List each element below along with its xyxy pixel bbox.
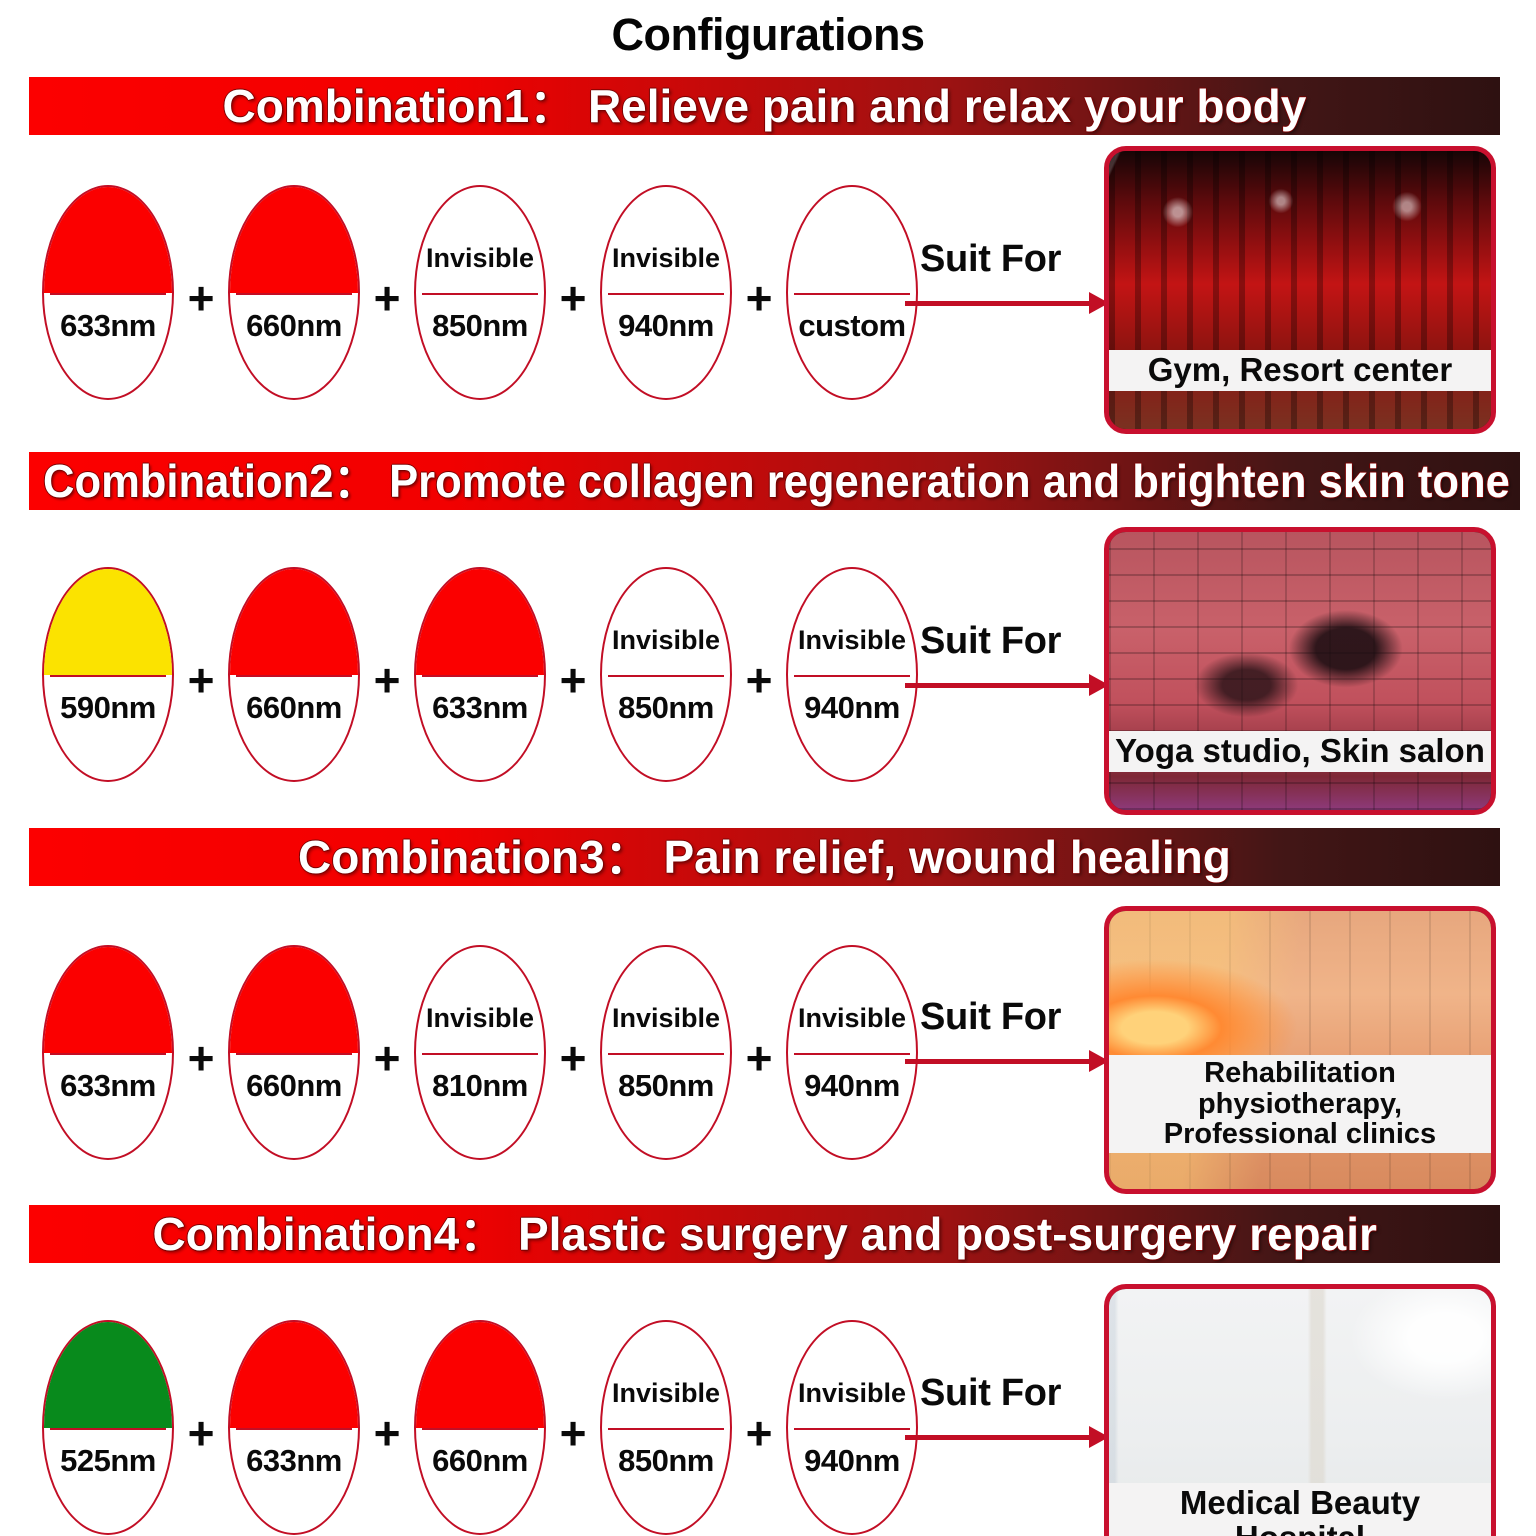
led-divider-line [794, 675, 909, 678]
led-ellipse: 633nm [42, 185, 174, 400]
led-divider-line [608, 1053, 723, 1056]
led-divider-line [50, 675, 165, 678]
led-divider-line [422, 293, 537, 296]
application-photo-card: Medical Beauty Hospital [1104, 1284, 1496, 1536]
led-ellipse-outline [600, 567, 732, 782]
led-ellipse: 633nm [228, 1320, 360, 1535]
led-visibility-label: Invisible [600, 245, 732, 272]
led-ellipse-outline [414, 567, 546, 782]
suit-for-label: Suit For [920, 620, 1061, 663]
led-color-fill [42, 185, 174, 293]
led-ellipse: 660nm [228, 945, 360, 1160]
suit-for-arrow-line [905, 683, 1095, 688]
led-ellipse-outline [414, 185, 546, 400]
led-ellipse: 660nm [228, 567, 360, 782]
application-caption: Medical Beauty Hospital [1109, 1483, 1491, 1536]
led-ellipse-outline [42, 945, 174, 1160]
led-divider-line [794, 1053, 909, 1056]
led-color-fill [414, 1320, 546, 1428]
led-wavelength-label: 850nm [600, 692, 732, 723]
led-wavelength-label: 590nm [42, 692, 174, 723]
plus-sign: + [732, 657, 786, 703]
led-ellipse-outline [786, 1320, 918, 1535]
led-divider-line [422, 1053, 537, 1056]
led-wavelength-label: 850nm [600, 1070, 732, 1101]
led-visibility-label: Invisible [414, 1005, 546, 1032]
combination-banner-text: Combination4： Plastic surgery and post-s… [153, 1205, 1377, 1263]
led-visibility-label: Invisible [786, 1380, 918, 1407]
application-photo-card: Gym, Resort center [1104, 146, 1496, 434]
led-chain: 525nm+633nm+660nm+Invisible850nm+Invisib… [42, 1320, 918, 1535]
led-divider-line [608, 293, 723, 296]
plus-sign: + [546, 275, 600, 321]
led-wavelength-label: 810nm [414, 1070, 546, 1101]
led-divider-line [50, 1428, 165, 1431]
led-ellipse: Invisible940nm [600, 185, 732, 400]
led-divider-line [422, 675, 537, 678]
led-ellipse-outline [600, 945, 732, 1160]
led-ellipse-outline [600, 1320, 732, 1535]
led-divider-line [794, 293, 909, 296]
led-ellipse: custom [786, 185, 918, 400]
led-wavelength-label: 525nm [42, 1445, 174, 1476]
led-visibility-label: Invisible [414, 245, 546, 272]
plus-sign: + [174, 1410, 228, 1456]
suit-for-arrow-line [905, 301, 1095, 306]
led-wavelength-label: custom [786, 310, 918, 341]
plus-sign: + [174, 1035, 228, 1081]
led-divider-line [608, 675, 723, 678]
plus-sign: + [546, 1035, 600, 1081]
led-ellipse: Invisible940nm [786, 567, 918, 782]
led-visibility-label: Invisible [786, 1005, 918, 1032]
led-wavelength-label: 940nm [786, 692, 918, 723]
led-ellipse-outline [228, 567, 360, 782]
suit-for-arrow-line [905, 1435, 1095, 1440]
led-ellipse: Invisible850nm [600, 945, 732, 1160]
led-ellipse: 525nm [42, 1320, 174, 1535]
plus-sign: + [546, 657, 600, 703]
plus-sign: + [732, 1410, 786, 1456]
led-wavelength-label: 660nm [228, 692, 360, 723]
plus-sign: + [732, 1035, 786, 1081]
led-color-fill [42, 567, 174, 675]
plus-sign: + [174, 657, 228, 703]
combination-banner-text: Combination1： Relieve pain and relax you… [223, 77, 1307, 135]
led-ellipse: Invisible850nm [600, 567, 732, 782]
combination-banner: Combination2： Promote collagen regenerat… [29, 452, 1520, 510]
combination-banner-text: Combination2： Promote collagen regenerat… [43, 452, 1510, 510]
combination-banner-text: Combination3： Pain relief, wound healing [298, 828, 1231, 886]
led-ellipse-outline [786, 567, 918, 782]
led-wavelength-label: 633nm [228, 1445, 360, 1476]
led-ellipse-outline [228, 945, 360, 1160]
plus-sign: + [546, 1410, 600, 1456]
led-color-fill [42, 945, 174, 1053]
plus-sign: + [732, 275, 786, 321]
application-caption: Yoga studio, Skin salon [1109, 731, 1491, 772]
led-wavelength-label: 633nm [414, 692, 546, 723]
combination-banner: Combination1： Relieve pain and relax you… [29, 77, 1500, 135]
led-chain: 590nm+660nm+633nm+Invisible850nm+Invisib… [42, 567, 918, 782]
page-title: Configurations [0, 6, 1536, 64]
application-caption: Gym, Resort center [1109, 350, 1491, 391]
suit-for-label: Suit For [920, 996, 1061, 1039]
led-wavelength-label: 850nm [600, 1445, 732, 1476]
led-divider-line [608, 1428, 723, 1431]
plus-sign: + [360, 1035, 414, 1081]
application-photo-card: Yoga studio, Skin salon [1104, 527, 1496, 815]
application-photo-card: Rehabilitation physiotherapy, Profession… [1104, 906, 1496, 1194]
plus-sign: + [174, 275, 228, 321]
led-wavelength-label: 940nm [786, 1445, 918, 1476]
led-wavelength-label: 633nm [42, 1070, 174, 1101]
led-chain: 633nm+660nm+Invisible810nm+Invisible850n… [42, 945, 918, 1160]
led-ellipse-outline [228, 1320, 360, 1535]
led-ellipse: 660nm [414, 1320, 546, 1535]
led-divider-line [236, 293, 351, 296]
led-ellipse-outline [42, 567, 174, 782]
led-ellipse: Invisible940nm [786, 1320, 918, 1535]
led-divider-line [794, 1428, 909, 1431]
plus-sign: + [360, 1410, 414, 1456]
led-visibility-label: Invisible [600, 627, 732, 654]
led-wavelength-label: 940nm [786, 1070, 918, 1101]
led-wavelength-label: 850nm [414, 310, 546, 341]
led-ellipse: 590nm [42, 567, 174, 782]
plus-sign: + [360, 275, 414, 321]
led-ellipse: Invisible810nm [414, 945, 546, 1160]
led-ellipse-outline [228, 185, 360, 400]
led-visibility-label: Invisible [600, 1380, 732, 1407]
led-ellipse: 633nm [42, 945, 174, 1160]
led-ellipse-outline [786, 945, 918, 1160]
led-wavelength-label: 633nm [42, 310, 174, 341]
led-color-fill [42, 1320, 174, 1428]
plus-sign: + [360, 657, 414, 703]
suit-for-label: Suit For [920, 238, 1061, 281]
led-color-fill [414, 567, 546, 675]
led-wavelength-label: 660nm [228, 310, 360, 341]
application-caption: Rehabilitation physiotherapy, Profession… [1109, 1055, 1491, 1153]
led-color-fill [228, 1320, 360, 1428]
led-ellipse: 633nm [414, 567, 546, 782]
led-ellipse: 660nm [228, 185, 360, 400]
suit-for-label: Suit For [920, 1372, 1061, 1415]
led-ellipse-outline [414, 1320, 546, 1535]
led-divider-line [50, 1053, 165, 1056]
led-ellipse-outline [786, 185, 918, 400]
led-color-fill [228, 945, 360, 1053]
led-divider-line [236, 1428, 351, 1431]
led-ellipse-outline [600, 185, 732, 400]
led-wavelength-label: 660nm [228, 1070, 360, 1101]
led-color-fill [228, 567, 360, 675]
configurations-infographic: Configurations Combination1： Relieve pai… [0, 0, 1536, 1536]
led-visibility-label: Invisible [600, 1005, 732, 1032]
led-visibility-label: Invisible [786, 627, 918, 654]
led-chain: 633nm+660nm+Invisible850nm+Invisible940n… [42, 185, 918, 400]
led-color-fill [228, 185, 360, 293]
combination-banner: Combination3： Pain relief, wound healing [29, 828, 1500, 886]
combination-banner: Combination4： Plastic surgery and post-s… [29, 1205, 1500, 1263]
led-wavelength-label: 940nm [600, 310, 732, 341]
led-ellipse: Invisible940nm [786, 945, 918, 1160]
led-divider-line [422, 1428, 537, 1431]
led-ellipse-outline [414, 945, 546, 1160]
led-ellipse: Invisible850nm [600, 1320, 732, 1535]
led-divider-line [236, 1053, 351, 1056]
led-divider-line [236, 675, 351, 678]
suit-for-arrow-line [905, 1059, 1095, 1064]
led-ellipse-outline [42, 1320, 174, 1535]
led-divider-line [50, 293, 165, 296]
led-ellipse: Invisible850nm [414, 185, 546, 400]
led-wavelength-label: 660nm [414, 1445, 546, 1476]
led-ellipse-outline [42, 185, 174, 400]
